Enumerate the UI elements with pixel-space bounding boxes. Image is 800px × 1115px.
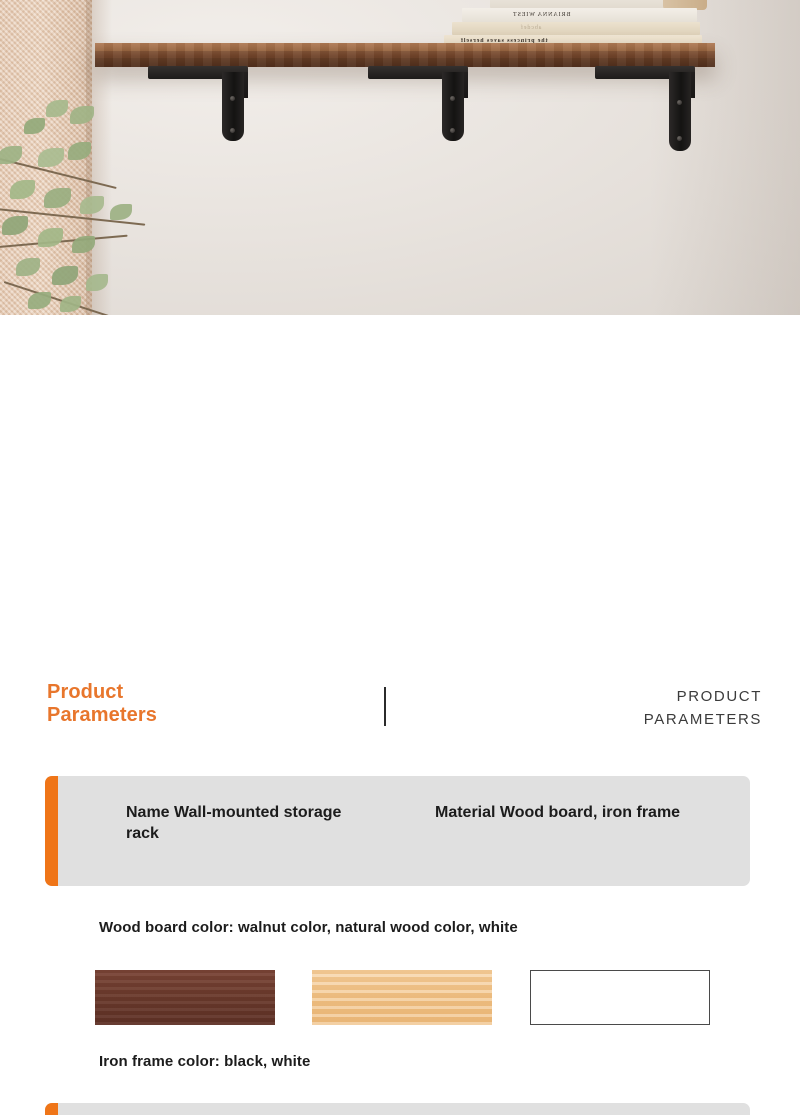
plant-leaf (60, 296, 81, 312)
plant-leaf (70, 106, 94, 124)
color-swatch-white[interactable] (530, 970, 710, 1025)
parameters-panel-accent-bar (45, 776, 58, 886)
bracket-screw-hole (450, 96, 455, 101)
parameter-row-name: Name Wall-mounted storage rack (126, 802, 356, 844)
iron-frame-color-label: Iron frame color: black, white (99, 1053, 310, 1070)
plant-leaf (52, 266, 78, 285)
plant-leaf (2, 216, 28, 235)
plant-leaf (110, 204, 132, 220)
header-divider-rule (384, 687, 386, 726)
plant-leaf (44, 188, 71, 208)
parameter-row-material: Material Wood board, iron frame (435, 802, 685, 823)
book-title-middle: abcdef (520, 25, 541, 31)
section-subtitle: PRODUCT PARAMETERS (644, 685, 762, 731)
next-parameters-panel-accent-bar (45, 1103, 58, 1115)
plant-stem (0, 235, 128, 248)
bracket-screw-hole (677, 136, 682, 141)
plant-leaf (46, 100, 68, 117)
bracket-screw-hole (450, 128, 455, 133)
section-subtitle-line2: PARAMETERS (644, 708, 762, 731)
section-subtitle-line1: PRODUCT (644, 685, 762, 708)
plant-leaf (72, 236, 95, 253)
bracket-screw-hole (230, 128, 235, 133)
bracket-screw-hole (677, 100, 682, 105)
section-title: Product Parameters (47, 681, 157, 727)
shelf-bracket-right (595, 66, 695, 151)
book-title-brianna-wiest: BRIANNA WIEST (512, 12, 570, 18)
product-parameters-section: Product Parameters PRODUCT PARAMETERS Na… (0, 315, 800, 800)
section-title-line2: Parameters (47, 704, 157, 727)
book-middle (452, 22, 700, 35)
book-brianna-wiest (462, 8, 697, 22)
decorative-plant (0, 96, 169, 311)
shelf-wood-grain (95, 43, 715, 67)
plant-leaf (38, 148, 64, 167)
plant-leaf (86, 274, 108, 291)
hero-product-photo: BRIANNA WIEST abcdef the princess saves … (0, 0, 800, 315)
color-swatch-walnut[interactable] (95, 970, 275, 1025)
wood-color-label: Wood board color: walnut color, natural … (99, 919, 518, 936)
plant-leaf (80, 196, 104, 214)
plant-leaf (24, 118, 45, 134)
plant-leaf (0, 146, 22, 164)
bracket-screw-hole (230, 96, 235, 101)
plant-leaf (28, 292, 51, 309)
plant-leaf (68, 142, 91, 160)
product-detail-page: BRIANNA WIEST abcdef the princess saves … (0, 0, 800, 800)
plant-leaf (38, 228, 63, 247)
book-top (490, 0, 665, 8)
plant-leaf (10, 180, 35, 199)
color-swatch-natural-wood[interactable] (312, 970, 492, 1025)
shelf-bracket-middle (368, 66, 468, 141)
next-parameters-panel (45, 1103, 750, 1115)
plant-leaf (16, 258, 40, 276)
section-title-line1: Product (47, 681, 157, 704)
